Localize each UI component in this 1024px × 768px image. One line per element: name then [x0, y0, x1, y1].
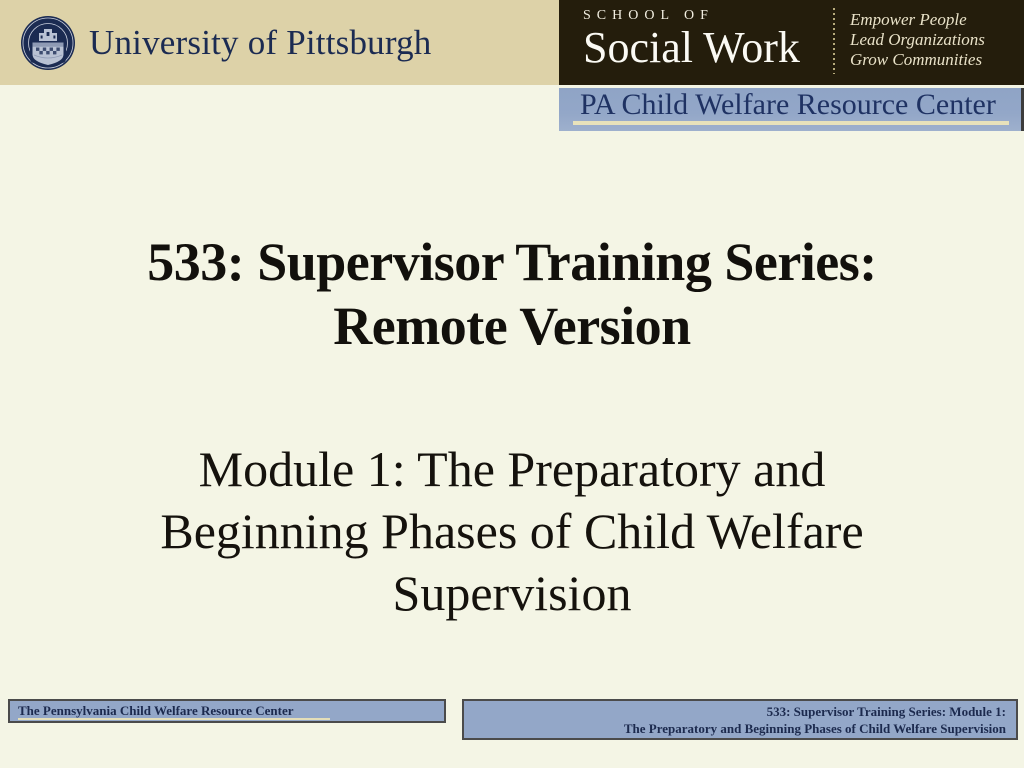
page-subtitle-line-3: Supervision — [62, 562, 962, 624]
page-subtitle-line-1: Module 1: The Preparatory and — [62, 438, 962, 500]
page-subtitle: Module 1: The Preparatory and Beginning … — [62, 438, 962, 624]
tagline-line-2: Lead Organizations — [850, 30, 985, 50]
resource-center-underline — [573, 121, 1009, 125]
university-logo-band: University of Pittsburgh — [0, 0, 559, 85]
footer-left-box: The Pennsylvania Child Welfare Resource … — [8, 699, 446, 723]
page-title-line-1: 533: Supervisor Training Series: — [62, 230, 962, 294]
tagline-line-1: Empower People — [850, 10, 985, 30]
footer-right-box: 533: Supervisor Training Series: Module … — [462, 699, 1018, 740]
footer-course-reference: 533: Supervisor Training Series: Module … — [624, 703, 1006, 737]
dotted-divider — [833, 8, 835, 74]
tagline-line-3: Grow Communities — [850, 50, 985, 70]
pitt-seal-icon — [20, 15, 76, 71]
footer-course-line-2: The Preparatory and Beginning Phases of … — [624, 720, 1006, 737]
school-of-social-work-logo: SCHOOL OF Social Work — [583, 7, 800, 73]
footer-course-line-1: 533: Supervisor Training Series: Module … — [624, 703, 1006, 720]
school-name-label: Social Work — [583, 23, 800, 73]
slide-header: University of Pittsburgh SCHOOL OF Socia… — [0, 0, 1024, 132]
page-title-line-2: Remote Version — [62, 294, 962, 358]
page-title: 533: Supervisor Training Series: Remote … — [62, 230, 962, 358]
school-taglines: Empower People Lead Organizations Grow C… — [850, 10, 985, 70]
school-of-social-work-band: SCHOOL OF Social Work Empower People Lea… — [559, 0, 1024, 85]
university-wordmark: University of Pittsburgh — [89, 23, 432, 63]
page-subtitle-line-2: Beginning Phases of Child Welfare — [62, 500, 962, 562]
resource-center-name: PA Child Welfare Resource Center — [580, 88, 996, 123]
footer-organization-label: The Pennsylvania Child Welfare Resource … — [18, 703, 294, 719]
footer-left-underline — [18, 718, 330, 720]
resource-center-band: PA Child Welfare Resource Center — [559, 88, 1024, 131]
